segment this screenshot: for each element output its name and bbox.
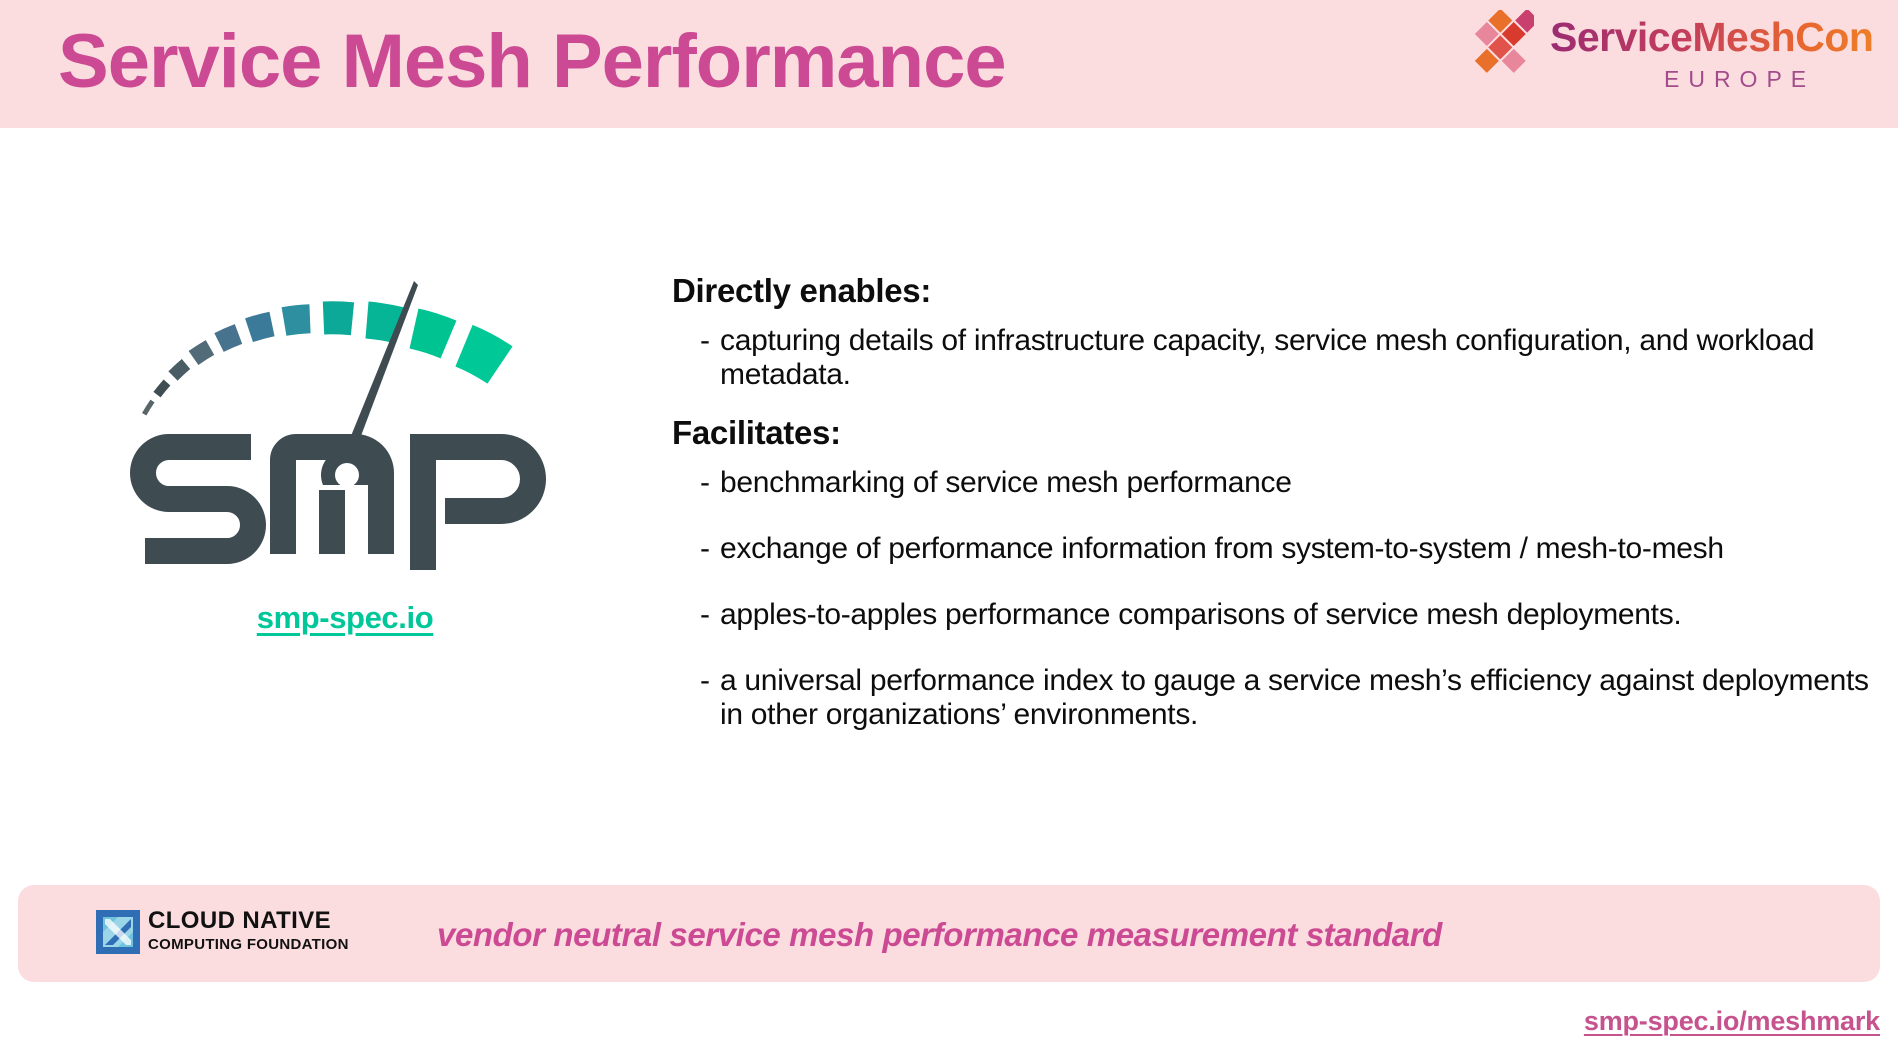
list-item-text: benchmarking of service mesh performance	[720, 466, 1292, 500]
list-item: - benchmarking of service mesh performan…	[672, 466, 1872, 500]
list-item-text: a universal performance index to gauge a…	[720, 664, 1870, 732]
bullet-list-directly-enables: - capturing details of infrastructure ca…	[672, 324, 1872, 392]
list-item-text: apples-to-apples performance comparisons…	[720, 598, 1681, 632]
bullet-list-facilitates: - benchmarking of service mesh performan…	[672, 466, 1872, 732]
servicemeshcon-subtitle: EUROPE	[1664, 66, 1815, 93]
servicemeshcon-diamond-mark	[1468, 10, 1534, 82]
servicemeshcon-logo: ServiceMeshCon EUROPE	[1468, 8, 1888, 118]
cncf-square-mark	[96, 910, 140, 954]
section-heading-directly-enables: Directly enables:	[672, 272, 1872, 310]
list-item-text: capturing details of infrastructure capa…	[720, 324, 1870, 392]
cncf-logo: CLOUD NATIVE COMPUTING FOUNDATION	[96, 908, 346, 960]
bullet-marker: -	[672, 324, 720, 358]
bullet-marker: -	[672, 664, 720, 698]
footer-tagline: vendor neutral service mesh performance …	[437, 916, 1442, 954]
cncf-wordmark: CLOUD NATIVE COMPUTING FOUNDATION	[148, 908, 349, 956]
servicemeshcon-wordmark: ServiceMeshCon	[1550, 14, 1873, 61]
meshmark-link[interactable]: smp-spec.io/meshmark	[1584, 1006, 1880, 1037]
smp-wordmark	[123, 430, 553, 570]
content-column: Directly enables: - capturing details of…	[672, 272, 1872, 764]
bullet-marker: -	[672, 466, 720, 500]
list-item: - exchange of performance information fr…	[672, 532, 1872, 566]
page-title: Service Mesh Performance	[58, 6, 1006, 118]
cncf-line-1: CLOUD NATIVE	[148, 908, 349, 934]
cncf-line-2: COMPUTING FOUNDATION	[148, 934, 349, 956]
bullet-marker: -	[672, 598, 720, 632]
bullet-marker: -	[672, 532, 720, 566]
list-item: - apples-to-apples performance compariso…	[672, 598, 1872, 632]
list-item: - a universal performance index to gauge…	[672, 664, 1872, 732]
list-item-text: exchange of performance information from…	[720, 532, 1724, 566]
smp-logo-block: smp-spec.io	[85, 185, 605, 655]
list-item: - capturing details of infrastructure ca…	[672, 324, 1872, 392]
smp-spec-link[interactable]: smp-spec.io	[85, 600, 605, 636]
section-heading-facilitates: Facilitates:	[672, 414, 1872, 452]
